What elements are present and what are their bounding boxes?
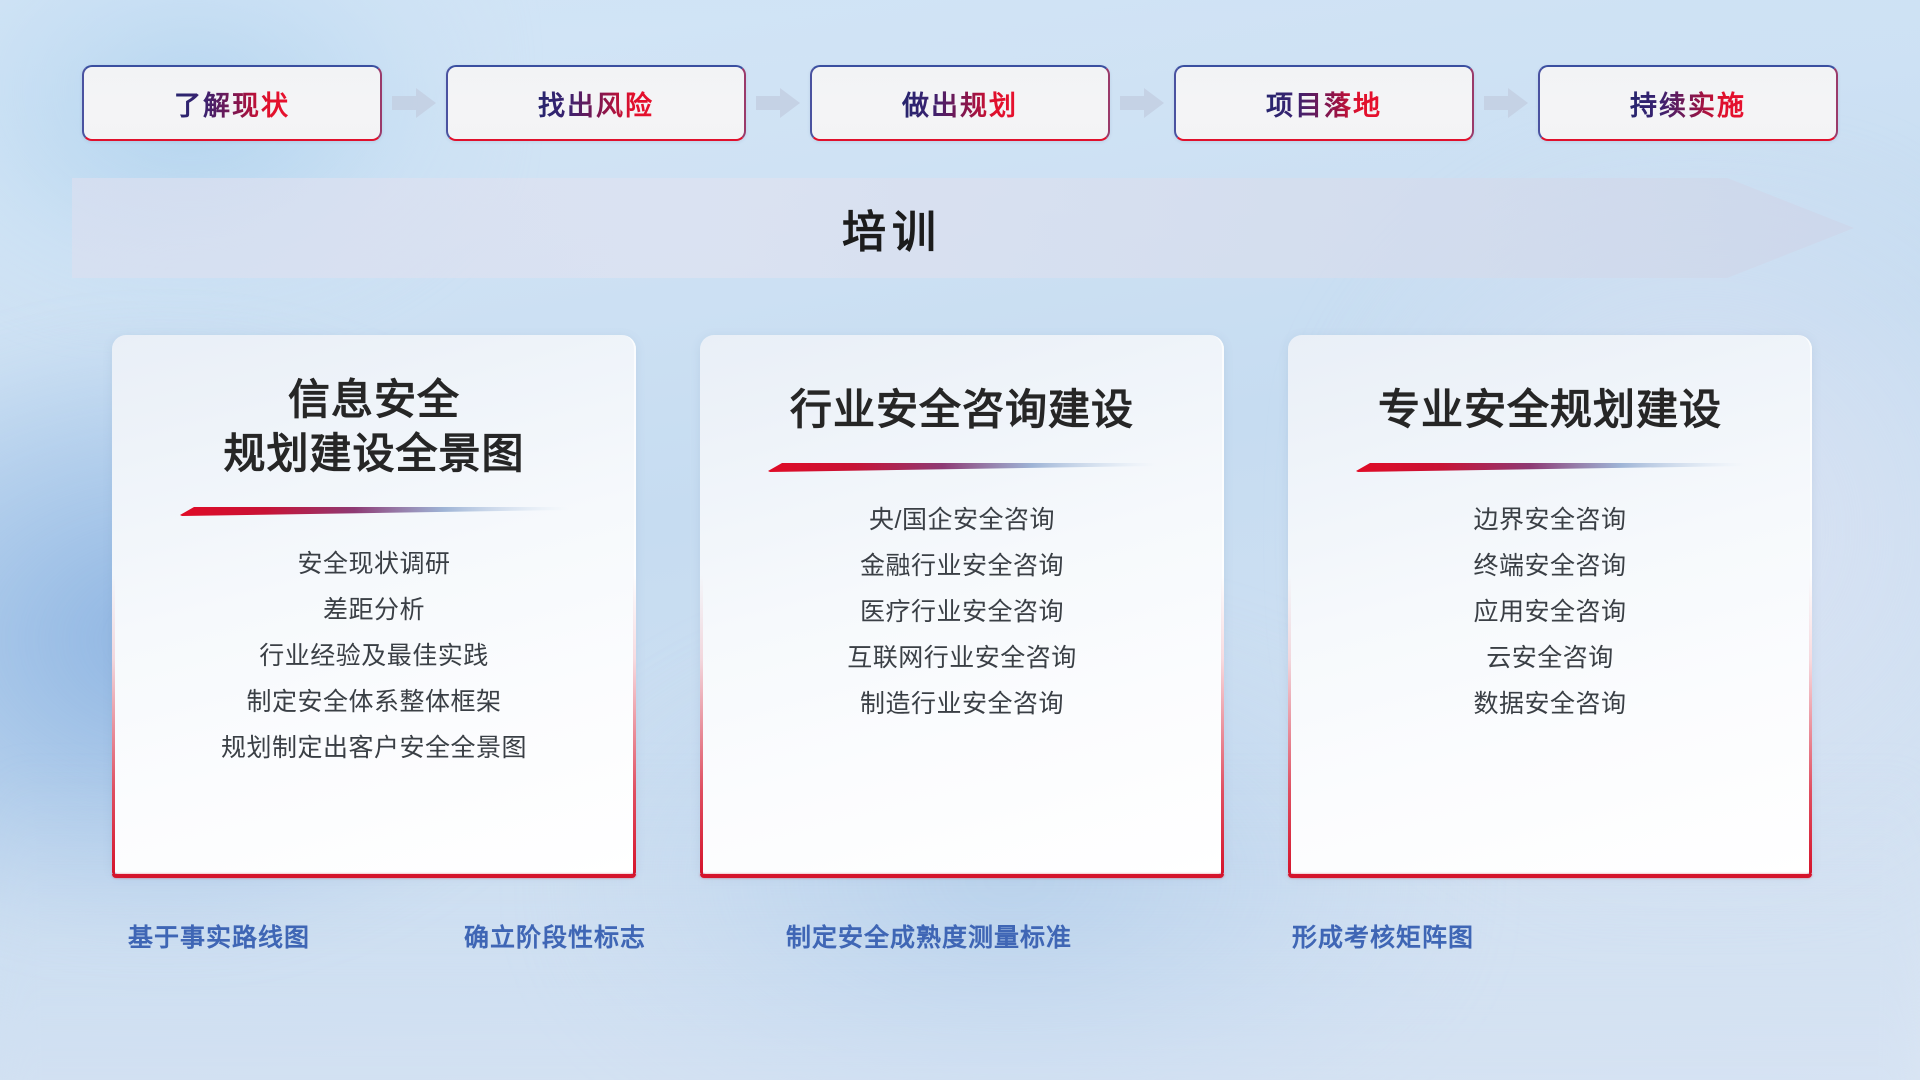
- card-accent-left: [1288, 575, 1291, 875]
- card-item[interactable]: 央/国企安全咨询: [700, 498, 1224, 544]
- card-item[interactable]: 终端安全咨询: [1288, 544, 1812, 590]
- caption-label-1: 基于事实路线图: [128, 918, 310, 954]
- arrow-right-icon: [756, 86, 800, 120]
- card-item[interactable]: 应用安全咨询: [1288, 590, 1812, 636]
- card-item[interactable]: 医疗行业安全咨询: [700, 590, 1224, 636]
- card-accent-right: [1221, 575, 1224, 875]
- card-item[interactable]: 差距分析: [112, 588, 636, 634]
- caption-row: 基于事实路线图确立阶段性标志制定安全成熟度测量标准形成考核矩阵图: [0, 918, 1920, 962]
- process-steps: 了解现状找出风险做出规划项目落地持续实施: [0, 58, 1920, 148]
- card-item-list: 安全现状调研差距分析行业经验及最佳实践制定安全体系整体框架规划制定出客户安全全景…: [112, 542, 636, 772]
- card-accent-right: [633, 575, 636, 875]
- card-accent-left: [112, 575, 115, 875]
- card-item[interactable]: 制定安全体系整体框架: [112, 680, 636, 726]
- card-item-list: 边界安全咨询终端安全咨询应用安全咨询云安全咨询数据安全咨询: [1288, 498, 1812, 728]
- service-card-1[interactable]: 信息安全 规划建设全景图 安全现状调研差距分析行业经验及最佳实践制定安全体系整体…: [112, 335, 636, 875]
- arrow-right-icon: [1120, 86, 1164, 120]
- training-banner: 培训: [72, 178, 1854, 278]
- caption-label-4: 形成考核矩阵图: [1292, 918, 1474, 954]
- card-divider: [1356, 463, 1744, 472]
- step-box-1[interactable]: 了解现状: [82, 65, 382, 141]
- banner-title: 培训: [72, 178, 1712, 278]
- card-item[interactable]: 云安全咨询: [1288, 636, 1812, 682]
- card-accent-left: [700, 575, 703, 875]
- step-label: 做出规划: [902, 84, 1018, 123]
- card-item[interactable]: 数据安全咨询: [1288, 682, 1812, 728]
- step-label: 了解现状: [174, 84, 290, 123]
- caption-label-3: 制定安全成熟度测量标准: [786, 918, 1072, 954]
- card-item[interactable]: 安全现状调研: [112, 542, 636, 588]
- card-item-list: 央/国企安全咨询金融行业安全咨询医疗行业安全咨询互联网行业安全咨询制造行业安全咨…: [700, 498, 1224, 728]
- card-item[interactable]: 行业经验及最佳实践: [112, 634, 636, 680]
- card-item[interactable]: 互联网行业安全咨询: [700, 636, 1224, 682]
- card-item[interactable]: 规划制定出客户安全全景图: [112, 726, 636, 772]
- arrow-right-icon: [392, 86, 436, 120]
- card-divider: [768, 463, 1156, 472]
- step-label: 项目落地: [1266, 84, 1382, 123]
- arrow-right-icon: [1484, 86, 1528, 120]
- card-divider: [180, 507, 568, 516]
- service-card-3[interactable]: 专业安全规划建设 边界安全咨询终端安全咨询应用安全咨询云安全咨询数据安全咨询: [1288, 335, 1812, 875]
- step-box-4[interactable]: 项目落地: [1174, 65, 1474, 141]
- service-cards: 信息安全 规划建设全景图 安全现状调研差距分析行业经验及最佳实践制定安全体系整体…: [112, 335, 1812, 875]
- step-label: 持续实施: [1630, 84, 1746, 123]
- step-box-2[interactable]: 找出风险: [446, 65, 746, 141]
- card-item[interactable]: 边界安全咨询: [1288, 498, 1812, 544]
- caption-label-2: 确立阶段性标志: [464, 918, 646, 954]
- card-title: 信息安全 规划建设全景图: [223, 373, 524, 481]
- step-label: 找出风险: [538, 84, 654, 123]
- step-box-5[interactable]: 持续实施: [1538, 65, 1838, 141]
- card-item[interactable]: 金融行业安全咨询: [700, 544, 1224, 590]
- step-box-3[interactable]: 做出规划: [810, 65, 1110, 141]
- card-title: 行业安全咨询建设: [790, 383, 1134, 437]
- card-title: 专业安全规划建设: [1378, 383, 1722, 437]
- card-item[interactable]: 制造行业安全咨询: [700, 682, 1224, 728]
- service-card-2[interactable]: 行业安全咨询建设 央/国企安全咨询金融行业安全咨询医疗行业安全咨询互联网行业安全…: [700, 335, 1224, 875]
- card-accent-right: [1809, 575, 1812, 875]
